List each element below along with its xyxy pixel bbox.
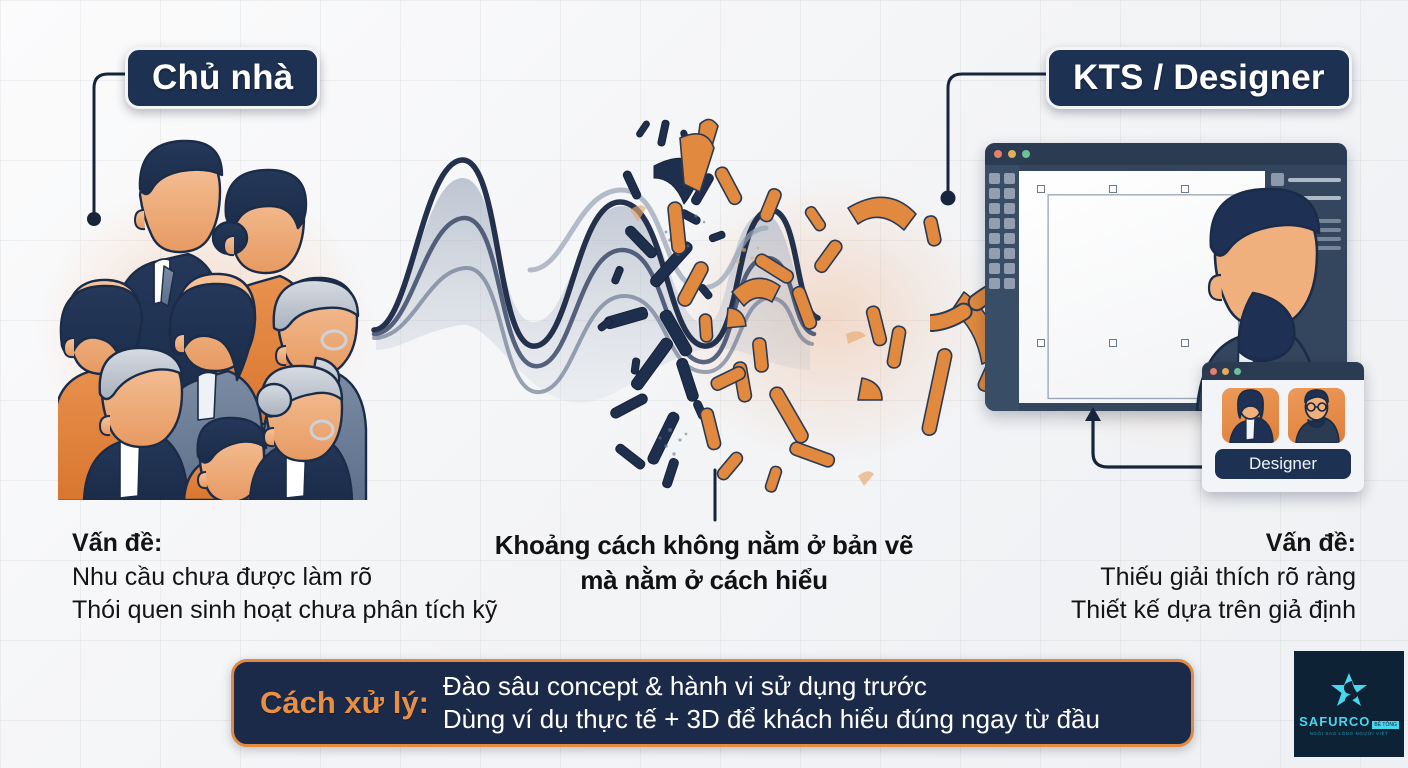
solution-bar: Cách xử lý: Đào sâu concept & hành vi sử…	[231, 659, 1194, 747]
video-call-window[interactable]: Designer	[1202, 362, 1364, 492]
brush-tool-icon[interactable]	[1004, 203, 1015, 214]
call-to-app-arrow	[1080, 405, 1210, 475]
scale-tool-icon[interactable]	[989, 263, 1000, 274]
problem-left-line-2: Thói quen sinh hoạt chưa phân tích kỹ	[72, 596, 497, 624]
avatar-female[interactable]	[1222, 388, 1279, 443]
transform-tool-icon[interactable]	[989, 278, 1000, 289]
homeowners-family-illustration	[58, 132, 388, 500]
solution-label: Cách xử lý:	[260, 685, 429, 721]
solution-line-1: Đào sâu concept & hành vi sử dụng trước	[443, 670, 1100, 703]
solution-line-2: Dùng ví dụ thực tế + 3D để khách hiểu đú…	[443, 703, 1100, 736]
minimize-traffic-light[interactable]	[1008, 150, 1016, 158]
call-close-traffic-light[interactable]	[1210, 368, 1217, 375]
logo-tag: BÊ TÔNG	[1372, 721, 1398, 729]
line-tool-icon[interactable]	[1004, 188, 1015, 199]
safurco-logo: SAFURCO BÊ TÔNG NGÔI SAO LÒNG NGƯỜI VIỆT	[1294, 651, 1404, 757]
layer-thumb-icon	[1271, 173, 1284, 186]
tool-palette[interactable]	[985, 165, 1019, 411]
center-caption-line-1: Khoảng cách không nằm ở bản vẽ	[0, 528, 1408, 563]
problem-right-line-2: Thiết kế dựa trên giả định	[1071, 596, 1356, 624]
call-role-label: Designer	[1215, 449, 1351, 479]
avatar-male[interactable]	[1288, 388, 1345, 443]
slice-tool-icon[interactable]	[1004, 248, 1015, 259]
designer-badge[interactable]: KTS / Designer	[1046, 47, 1352, 109]
logo-tagline: NGÔI SAO LÒNG NGƯỜI VIỆT	[1310, 731, 1389, 736]
center-caption-line-2: mà nằm ở cách hiểu	[0, 563, 1408, 598]
owner-badge[interactable]: Chủ nhà	[125, 47, 320, 109]
call-maximize-traffic-light[interactable]	[1234, 368, 1241, 375]
ellipse-tool-icon[interactable]	[989, 233, 1000, 244]
direct-select-tool-icon[interactable]	[1004, 173, 1015, 184]
eyedropper-tool-icon[interactable]	[989, 218, 1000, 229]
measure-tool-icon[interactable]	[1004, 278, 1015, 289]
solution-lines: Đào sâu concept & hành vi sử dụng trước …	[443, 670, 1100, 737]
call-titlebar	[1202, 362, 1364, 380]
app-titlebar	[985, 143, 1347, 165]
layer-name-bar	[1288, 178, 1341, 182]
call-minimize-traffic-light[interactable]	[1222, 368, 1229, 375]
close-traffic-light[interactable]	[994, 150, 1002, 158]
layer-row-1[interactable]	[1271, 173, 1341, 186]
rectangle-tool-icon[interactable]	[989, 248, 1000, 259]
center-caption: Khoảng cách không nằm ở bản vẽ mà nằm ở …	[0, 528, 1408, 598]
maximize-traffic-light[interactable]	[1022, 150, 1030, 158]
eraser-tool-icon[interactable]	[1004, 218, 1015, 229]
signal-waves-and-fragments	[370, 110, 1010, 510]
cursor-tool-icon[interactable]	[989, 173, 1000, 184]
pen-tool-icon[interactable]	[989, 188, 1000, 199]
call-participants	[1202, 380, 1364, 447]
pencil-tool-icon[interactable]	[989, 203, 1000, 214]
rotate-tool-icon[interactable]	[1004, 263, 1015, 274]
grid-tool-icon[interactable]	[1004, 233, 1015, 244]
infographic-canvas: Designer Chủ nhà KTS / Designer Vấn đề: …	[0, 0, 1408, 768]
logo-wordmark: SAFURCO	[1299, 714, 1370, 729]
star-logo-icon	[1328, 672, 1370, 712]
